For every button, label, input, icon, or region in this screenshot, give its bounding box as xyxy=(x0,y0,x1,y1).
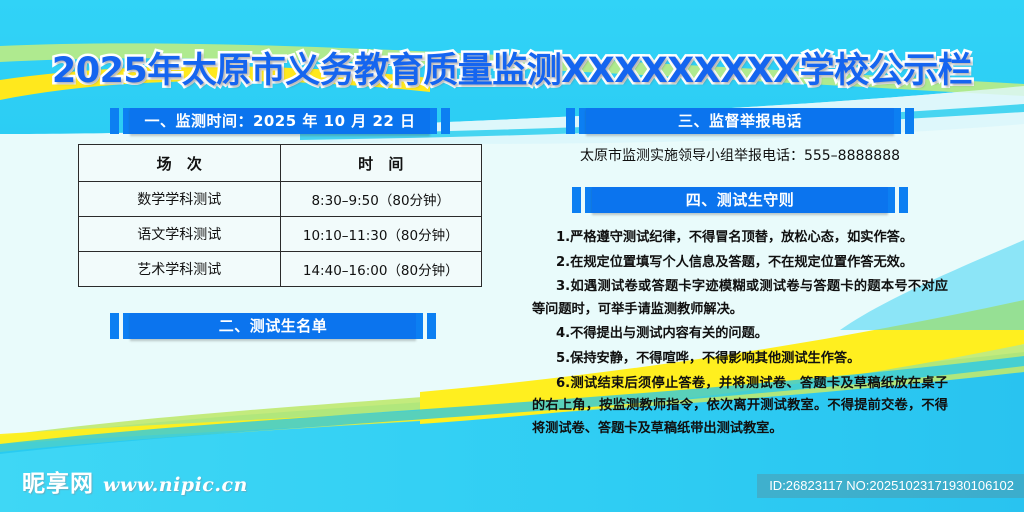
report-phone-line: 太原市监测实施领导小组举报电话：555–8888888 xyxy=(532,145,948,165)
rules-list: 1.严格遵守测试纪律，不得冒名顶替，放松心态，如实作答。 2.在规定位置填写个人… xyxy=(532,227,948,440)
decor-bar-right-thin xyxy=(416,313,423,339)
decor-bar-left-thick xyxy=(110,108,119,134)
table-cell-session: 艺术学科测试 xyxy=(79,252,281,287)
rule-item: 3.如遇测试卷或答题卡字迹模糊或测试卷与答题卡的题本号不对应等问题时，可举手请监… xyxy=(532,276,948,321)
table-row: 艺术学科测试 14:40–16:00（80分钟） xyxy=(79,252,482,287)
decor-bar-left-thin xyxy=(585,187,592,213)
right-column: 三、监督举报电话 太原市监测实施领导小组举报电话：555–8888888 四、测… xyxy=(532,108,948,442)
decor-bar-right-thick xyxy=(899,187,908,213)
section-four-header: 四、测试生守则 xyxy=(572,187,908,213)
decor-bar-left-thick xyxy=(110,313,119,339)
decor-bar-left-thin xyxy=(579,108,586,134)
section-two-header: 二、测试生名单 xyxy=(110,313,436,339)
decor-bar-right-thick xyxy=(441,108,450,134)
decor-bar-right-thin xyxy=(430,108,437,134)
table-cell-session: 数学学科测试 xyxy=(79,182,281,217)
table-cell-time: 14:40–16:00（80分钟） xyxy=(280,252,482,287)
table-cell-session: 语文学科测试 xyxy=(79,217,281,252)
decor-bar-right-thin xyxy=(888,187,895,213)
rule-item: 4.不得提出与测试内容有关的问题。 xyxy=(532,323,948,346)
table-row: 数学学科测试 8:30–9:50（80分钟） xyxy=(79,182,482,217)
rule-item: 2.在规定位置填写个人信息及答题，不在规定位置作答无效。 xyxy=(532,252,948,275)
rule-item: 6.测试结束后须停止答卷，并将测试卷、答题卡及草稿纸放在桌子的右上角，按监测教师… xyxy=(532,373,948,441)
rule-item: 5.保持安静，不得喧哗，不得影响其他测试生作答。 xyxy=(532,348,948,371)
poster-title: 2025年太原市义务教育质量监测XXXXXXXXX学校公示栏 xyxy=(52,42,972,93)
decor-bar-left-thick xyxy=(566,108,575,134)
decor-bar-left-thick xyxy=(572,187,581,213)
id-badge: ID:26823117 NO:20251023171930106102 xyxy=(757,474,1024,498)
table-row: 语文学科测试 10:10–11:30（80分钟） xyxy=(79,217,482,252)
table-cell-time: 8:30–9:50（80分钟） xyxy=(280,182,482,217)
poster-title-area: 2025年太原市义务教育质量监测XXXXXXXXX学校公示栏 xyxy=(0,42,1024,93)
decor-bar-right-thin xyxy=(894,108,901,134)
section-one-header: 一、监测时间：2025 年 10 月 22 日 xyxy=(110,108,450,134)
section-two-title: 二、测试生名单 xyxy=(130,313,416,339)
table-header-session: 场 次 xyxy=(79,145,281,182)
watermark-url: www.nipic.cn xyxy=(103,474,248,496)
section-three-title: 三、监督举报电话 xyxy=(586,108,894,134)
schedule-table: 场 次 时 间 数学学科测试 8:30–9:50（80分钟） 语文学科测试 10… xyxy=(78,144,482,287)
left-column: 一、监测时间：2025 年 10 月 22 日 场 次 时 间 数学学科测试 8… xyxy=(78,108,482,339)
watermark-logo: 昵享网 xyxy=(22,464,94,498)
section-three-header: 三、监督举报电话 xyxy=(566,108,914,134)
decor-bar-right-thick xyxy=(905,108,914,134)
decor-bar-left-thin xyxy=(123,313,130,339)
table-header-time: 时 间 xyxy=(280,145,482,182)
site-watermark: 昵享网 www.nipic.cn xyxy=(22,464,248,498)
poster-canvas: 2025年太原市义务教育质量监测XXXXXXXXX学校公示栏 一、监测时间：20… xyxy=(0,0,1024,512)
decor-bar-right-thick xyxy=(427,313,436,339)
decor-bar-left-thin xyxy=(123,108,130,134)
table-header-row: 场 次 时 间 xyxy=(79,145,482,182)
table-cell-time: 10:10–11:30（80分钟） xyxy=(280,217,482,252)
section-one-title: 一、监测时间：2025 年 10 月 22 日 xyxy=(130,108,430,134)
rule-item: 1.严格遵守测试纪律，不得冒名顶替，放松心态，如实作答。 xyxy=(532,227,948,250)
section-four-title: 四、测试生守则 xyxy=(592,187,888,213)
